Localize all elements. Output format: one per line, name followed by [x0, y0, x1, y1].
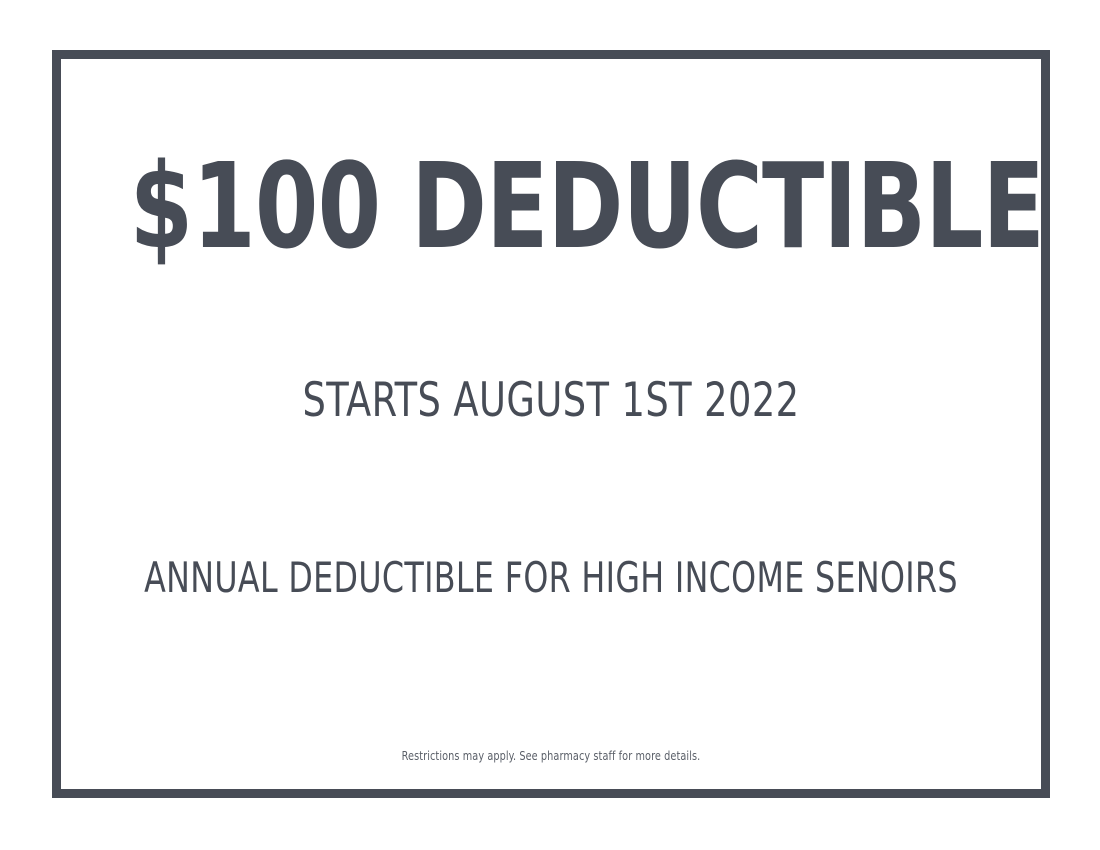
sign-content: $100 DEDUCTIBLE STARTS AUGUST 1ST 2022 A…	[61, 59, 1041, 789]
headline-price: $100 DEDUCTIBLE	[130, 147, 973, 265]
disclaimer-text: Restrictions may apply. See pharmacy sta…	[110, 749, 992, 763]
sign-poster: $100 DEDUCTIBLE STARTS AUGUST 1ST 2022 A…	[52, 50, 1050, 798]
start-date-line: STARTS AUGUST 1ST 2022	[125, 375, 978, 427]
description-line: ANNUAL DEDUCTIBLE FOR HIGH INCOME SENOIR…	[139, 555, 962, 601]
